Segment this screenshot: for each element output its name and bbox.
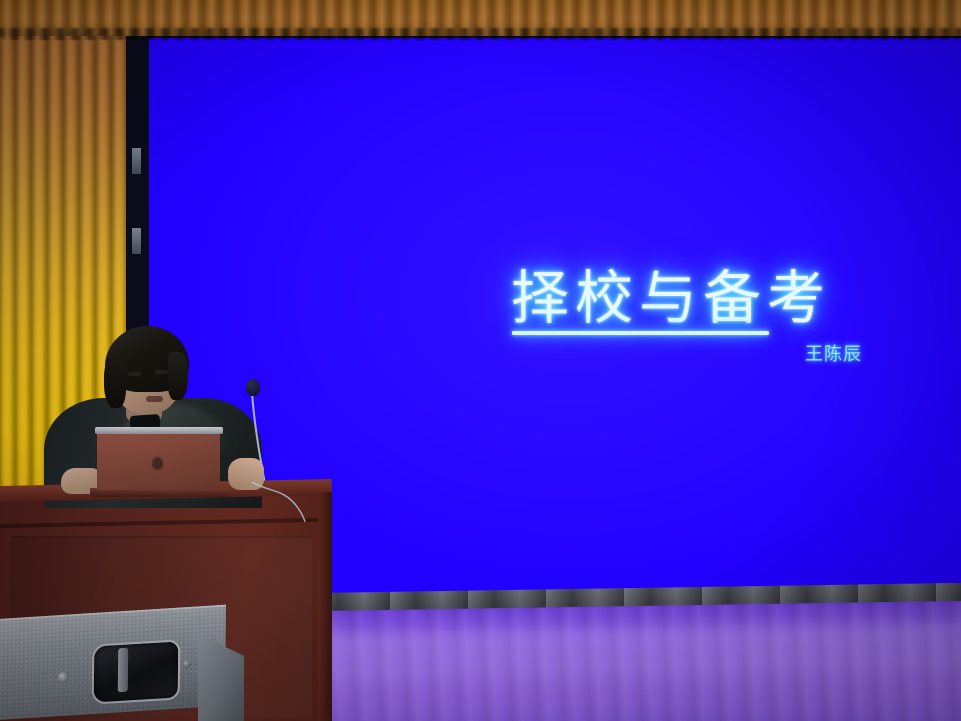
presenter-hair-left: [104, 356, 126, 408]
presenter-eye-right: [155, 370, 168, 374]
stage-monitor-handle-recess: [92, 639, 181, 704]
presenter-mouth: [146, 396, 163, 402]
microphone-capsule-icon: [246, 379, 260, 396]
microphone-cable: [250, 482, 310, 522]
presenter-eye-left: [128, 372, 141, 376]
slide-author: 王陈辰: [805, 340, 862, 366]
podium-right-edge: [318, 492, 332, 721]
stage-monitor-screw-left: [58, 672, 69, 683]
slide-title-underline: [512, 331, 769, 335]
screen-clip-lower: [132, 228, 141, 254]
laptop-hinge: [95, 427, 223, 434]
stage-monitor-handle-bar: [118, 648, 128, 693]
lecture-hall-scene: 择校与备考 王陈辰: [0, 0, 961, 721]
apple-logo-icon: [152, 457, 163, 470]
stage-monitor-screw-right: [183, 660, 191, 668]
stage-floor-reflection: [300, 625, 961, 695]
stage-valance-hem: [0, 28, 961, 40]
slide-title: 择校与备考: [511, 251, 831, 335]
presenter-hair-right: [168, 352, 188, 400]
screen-clip-upper: [132, 148, 141, 174]
